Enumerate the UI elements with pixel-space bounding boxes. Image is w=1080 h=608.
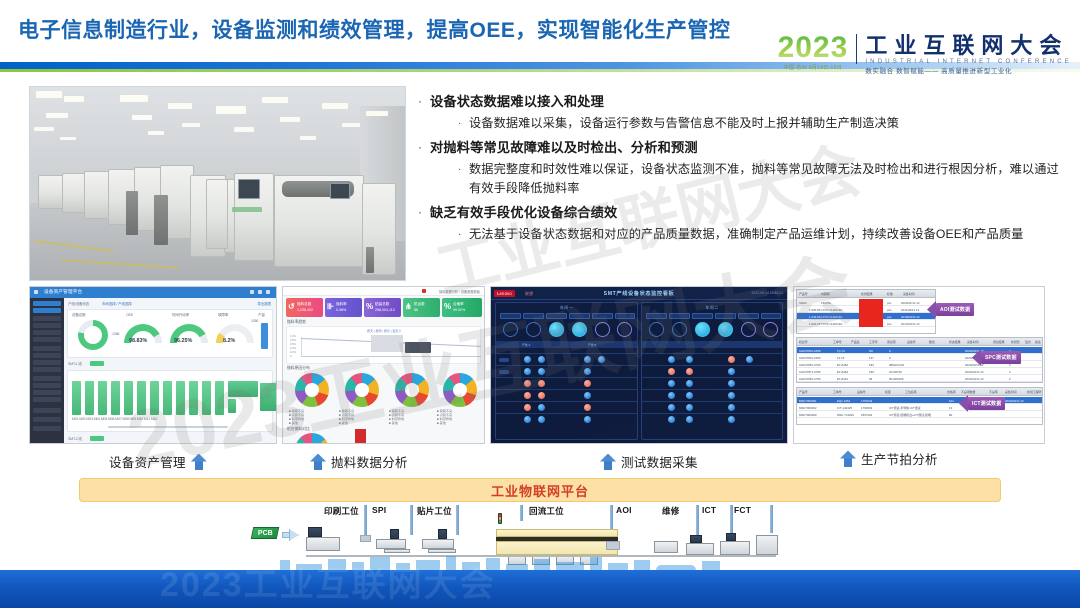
photo-machine-dark xyxy=(126,191,138,235)
bullet-marker: · xyxy=(418,203,430,222)
status-dot[interactable] xyxy=(728,368,735,375)
cell: 189 xyxy=(869,370,874,374)
status-dot[interactable] xyxy=(584,368,591,375)
status-dot-alarm[interactable] xyxy=(686,368,693,375)
col-header-0: 产品号 xyxy=(799,292,808,296)
dash3-timestamp: 2023-09-14 15:40:21 xyxy=(752,291,783,295)
status-dot[interactable] xyxy=(668,404,675,411)
cell: 1751042 xyxy=(861,399,872,403)
col-header-11: 班次 xyxy=(1025,340,1031,344)
sidebar-item[interactable] xyxy=(33,323,61,328)
bullet-level2: · 数据完整度和时效性难以保证，设备状态监测不准，抛料等常见故障无法及时检出和进… xyxy=(458,160,1073,199)
dashboard-test-data[interactable]: Lenovo 联想 SMT产线设备状态监控看板 2023-09-14 15:40… xyxy=(490,286,788,444)
status-dot-alarm[interactable] xyxy=(584,380,591,387)
conference-name-block: 工业互联网大会 INDUSTRIAL INTERNET CONFERENCE 数… xyxy=(865,34,1072,76)
dash1-section-1-label: SMT-1 线 xyxy=(68,362,82,367)
status-dot[interactable] xyxy=(668,356,675,363)
dash1-sidebar[interactable] xyxy=(30,298,64,443)
caption-reject-analysis: 抛料数据分析 xyxy=(310,452,408,471)
reflow-oven-top xyxy=(496,529,618,537)
sidebar-item-overview[interactable] xyxy=(33,301,61,306)
gauge-value-4: 1260 xyxy=(251,319,258,323)
scrollbar-horizontal[interactable] xyxy=(108,426,228,428)
col-header-5: 合格项 xyxy=(947,390,956,394)
gauge-label-1: OEE xyxy=(126,313,133,317)
machine-card[interactable] xyxy=(176,381,185,415)
kpi-ring-1 xyxy=(672,322,687,337)
table-row[interactable]: CHK07891-0790 ET-8491 96 801269155 2024/… xyxy=(797,375,1042,382)
table-row[interactable] xyxy=(496,365,637,376)
sidebar-item[interactable] xyxy=(33,397,61,402)
table-row[interactable]: SI023 15672A pcs 2024/01/14 12 xyxy=(797,299,935,306)
chart-selection-box xyxy=(371,335,403,352)
status-dot[interactable] xyxy=(728,404,735,411)
bell-icon[interactable] xyxy=(258,290,262,294)
machine-card[interactable] xyxy=(85,381,94,415)
machine-card[interactable] xyxy=(189,381,198,415)
kpi-title-2: 贴装总数 xyxy=(375,302,389,307)
table-row[interactable] xyxy=(496,401,637,412)
kpi-ring-1 xyxy=(526,322,541,337)
callout-label-spc: SPC测试数据 xyxy=(985,354,1017,361)
chip-2[interactable] xyxy=(692,313,713,319)
station-post xyxy=(456,505,459,535)
col-header-5: 设备号 xyxy=(907,340,916,344)
conference-date: 中国·苏州 9月14日-16日 xyxy=(778,64,849,71)
col-header-6: 数值 xyxy=(929,340,935,344)
ceiling-light xyxy=(182,123,200,127)
callout-label-ict: ICT测试数据 xyxy=(972,400,1001,407)
cell: EQ1-2451 xyxy=(837,399,850,403)
kpi-ring-4 xyxy=(595,322,610,337)
table-row[interactable] xyxy=(496,389,637,400)
skyline-block xyxy=(590,557,602,570)
chip-5[interactable] xyxy=(615,313,635,319)
col-header-0: 机台号 xyxy=(799,340,808,344)
callout-body: SPC测试数据 xyxy=(981,351,1021,364)
donut-chart-0 xyxy=(295,373,329,407)
kpi-ring-5 xyxy=(763,322,778,337)
cell: 2024/03/14 13 xyxy=(1005,399,1024,403)
skyline-block xyxy=(556,562,584,570)
kpi-card-0[interactable]: ↺ 抛料总数 1,238,402 xyxy=(286,298,323,317)
bullet-marker: · xyxy=(418,92,430,111)
search-icon[interactable] xyxy=(250,290,254,294)
ceiling-light xyxy=(36,91,62,98)
status-dot[interactable] xyxy=(686,416,693,423)
status-dot[interactable] xyxy=(746,356,753,363)
skyline-block xyxy=(634,560,650,570)
ceiling-light xyxy=(366,111,388,116)
table-ict[interactable]: 产品号 工单号 设备号 机型 工位名称 合格项 不良项数量 不良率 采集时间 检… xyxy=(796,387,1043,425)
machine-card[interactable] xyxy=(124,381,133,415)
col-header-4: 采集时间 xyxy=(903,292,915,296)
bullet-list: · 设备状态数据难以接入和处理 · 设备数据难以采集，设备运行参数与告警信息不能… xyxy=(418,88,1073,248)
status-dot[interactable] xyxy=(538,368,545,375)
chip-2[interactable] xyxy=(546,313,567,319)
dashboard-strip: 设备资产管理平台 产线/设备状态 车间选择 / 产线选择 xyxy=(29,286,1049,444)
table-row[interactable]: 1,522,157 PCS CHK019A pcs 2012/03/14 12 xyxy=(797,320,935,327)
station-label-aoi: AOI xyxy=(616,505,632,515)
status-dot[interactable] xyxy=(686,380,693,387)
machine-card[interactable] xyxy=(202,381,211,415)
up-arrow-icon xyxy=(600,454,616,470)
reflow-oven-body xyxy=(496,541,618,555)
table-row[interactable] xyxy=(642,401,782,412)
status-dot-alarm[interactable] xyxy=(524,392,531,399)
sidebar-item[interactable] xyxy=(33,376,61,381)
callout-ict: ICT测试数据 xyxy=(959,395,1005,412)
status-dot[interactable] xyxy=(668,392,675,399)
up-arrow-icon xyxy=(310,454,326,470)
col-header-9: 测试结果 xyxy=(993,340,1005,344)
dash2-user-info: 抛料数据分析 / 设备数据看板 xyxy=(439,289,480,294)
sidebar-item[interactable] xyxy=(33,383,61,388)
cell-ng-highlight xyxy=(859,299,883,306)
station-label-reflow: 回流工位 xyxy=(529,505,564,517)
donut-chart-3 xyxy=(443,373,477,407)
table-row[interactable]: CHK07871-0780 ET-8484 189 20149760 2024/… xyxy=(797,368,1042,375)
conference-year: 2023 xyxy=(778,34,849,62)
machine-block[interactable] xyxy=(228,381,258,397)
ceiling-light xyxy=(60,137,76,140)
cell: 2012/03/14 12 xyxy=(901,322,920,326)
bullet-level2-text: 数据完整度和时效性难以保证，设备状态监测不准，抛料等常见故障无法及时检出和进行根… xyxy=(469,160,1064,199)
table-header: 产品号 内容码 检测结果 标准 采集时间 xyxy=(797,290,935,298)
cell: ICT测试-半导体-ICT测试 xyxy=(889,406,920,410)
sidebar-item[interactable] xyxy=(33,390,61,395)
caption-label: 抛料数据分析 xyxy=(331,452,408,471)
column-title-right: 车间二 xyxy=(642,305,782,311)
kpi-ring-3 xyxy=(572,322,587,337)
callout-spc: SPC测试数据 xyxy=(972,349,1021,366)
photo-ceiling xyxy=(30,87,405,180)
chip-4[interactable] xyxy=(738,313,759,319)
status-dot[interactable] xyxy=(598,356,605,363)
status-dot[interactable] xyxy=(584,392,591,399)
machine-card[interactable] xyxy=(163,381,172,415)
conference-name-en: INDUSTRIAL INTERNET CONFERENCE xyxy=(865,58,1072,67)
kpi-sub-2: 258,004,113 xyxy=(375,308,395,313)
chip-3[interactable] xyxy=(715,313,736,319)
avatar[interactable] xyxy=(266,290,270,294)
cell: CHK07871-0780 xyxy=(799,370,821,374)
kpi-ring-2 xyxy=(549,322,564,337)
status-dot[interactable] xyxy=(686,392,693,399)
machine-block[interactable] xyxy=(228,399,236,413)
cell: 101 xyxy=(949,399,954,403)
col-header-3: 工序号 xyxy=(869,340,878,344)
ceiling-light xyxy=(342,123,360,127)
status-dot[interactable] xyxy=(538,404,545,411)
sub-title-left: 产线 A xyxy=(522,343,530,347)
kpi-title-3: 机台数 xyxy=(414,302,425,307)
status-dot[interactable] xyxy=(524,368,531,375)
status-dot[interactable] xyxy=(686,404,693,411)
kpi-card-2[interactable]: % 贴装总数 258,004,113 xyxy=(364,298,401,317)
oven-block[interactable] xyxy=(260,383,277,411)
status-dot[interactable] xyxy=(584,356,591,363)
dashboard-reject-analysis[interactable]: 抛料数据分析 / 设备数据看板 ↺ 抛料总数 1,238,402 ⊪ 抛料率 0… xyxy=(282,286,485,444)
status-dot[interactable] xyxy=(538,416,545,423)
bullet-level1-text: 对抛料等常见故障难以及时检出、分析和预测 xyxy=(430,138,698,157)
col-header-6: 不良项数量 xyxy=(961,390,975,394)
dashboard-takt-analysis[interactable]: 产品号 内容码 检测结果 标准 采集时间 SI023 15672A pcs 20… xyxy=(793,286,1045,444)
status-dot[interactable] xyxy=(686,356,693,363)
col-header-0: 产品号 xyxy=(799,390,808,394)
machine-card[interactable] xyxy=(98,381,107,415)
sidebar-item[interactable] xyxy=(33,367,61,372)
station-post xyxy=(520,505,523,521)
signal-tower-icon xyxy=(498,513,502,524)
cell: MSK7000001 xyxy=(799,399,817,403)
photo-machine xyxy=(62,173,86,213)
alert-icon[interactable] xyxy=(422,289,426,293)
kpi-ring-0 xyxy=(649,322,664,337)
table-row[interactable]: 1,525,601 PCS CHK019A pcs 2011/03/14 13 xyxy=(797,306,935,313)
chip-5[interactable] xyxy=(761,313,781,319)
kpi-ring-0 xyxy=(503,322,518,337)
cell: Tp-74 xyxy=(837,349,845,353)
dash1-app-title: 设备资产管理平台 xyxy=(44,289,82,295)
machine-card[interactable] xyxy=(215,381,224,415)
table-aoi[interactable]: 产品号 内容码 检测结果 标准 采集时间 SI023 15672A pcs 20… xyxy=(796,289,936,334)
bullet-level1-text: 设备状态数据难以接入和处理 xyxy=(430,92,604,111)
machine-card[interactable] xyxy=(150,381,159,415)
machine-axis-labels: M01 M02 M03 M04 M05 M06 M07 M08 M09 M10 … xyxy=(72,417,157,421)
bullet-level2-text: 无法基于设备状态数据和对应的产品质量数据，准确制定产品运维计划，持续改善设备OE… xyxy=(469,225,1064,245)
pcb-label: PCB xyxy=(258,530,273,537)
ceiling-light xyxy=(216,106,246,114)
conference-name-cn: 工业互联网大会 xyxy=(865,34,1072,58)
cell: MSK-741025 xyxy=(837,413,854,417)
sidebar-item[interactable] xyxy=(33,337,61,342)
kpi-ring-5 xyxy=(617,322,632,337)
placement-head-2 xyxy=(438,529,447,539)
machine-card[interactable] xyxy=(111,381,120,415)
status-dot[interactable] xyxy=(728,416,735,423)
dash1-filter-label[interactable]: 车间选择 / 产线选择 xyxy=(102,302,132,307)
cell: SI023 xyxy=(799,301,807,305)
status-dot-alarm[interactable] xyxy=(728,356,735,363)
status-dot-alarm[interactable] xyxy=(524,404,531,411)
chip-3[interactable] xyxy=(569,313,590,319)
caption-test-data: 测试数据采集 xyxy=(600,452,698,471)
caption-asset-management: 设备资产管理 xyxy=(109,452,207,471)
col-header-3: 机型 xyxy=(885,390,891,394)
chip-1[interactable] xyxy=(523,313,544,319)
pcb-board: PCB xyxy=(251,527,280,539)
bullet-marker: · xyxy=(418,138,430,157)
cell: 15672A xyxy=(821,301,831,305)
col-header-1: 内容码 xyxy=(821,292,830,296)
ict-head xyxy=(690,535,702,543)
sidebar-item[interactable] xyxy=(33,330,61,335)
dashboard-asset-management[interactable]: 设备资产管理平台 产线/设备状态 车间选择 / 产线选择 xyxy=(29,286,277,444)
callout-arrow-icon xyxy=(959,395,968,412)
machine-card[interactable] xyxy=(137,381,146,415)
chip-4[interactable] xyxy=(592,313,613,319)
status-dot[interactable] xyxy=(538,356,545,363)
cell: pcs xyxy=(887,322,892,326)
trend-filter-tabs[interactable]: 按天 | 按周 | 按月 | 自定义 xyxy=(367,329,401,333)
status-dot[interactable] xyxy=(524,356,531,363)
status-dot-alarm[interactable] xyxy=(538,380,545,387)
dash2-bottom-title: 机台抛料对比 xyxy=(287,427,310,432)
donut-chart-1 xyxy=(345,373,379,407)
dash3-header: Lenovo 联想 SMT产线设备状态监控看板 2023-09-14 15:40… xyxy=(491,287,787,300)
status-dot[interactable] xyxy=(728,380,735,387)
cell: 2024/03/14 13 xyxy=(965,370,984,374)
cell: 20149760 xyxy=(889,370,902,374)
kpi-card-4[interactable]: % 合格率 99.52% xyxy=(442,298,482,317)
cell-ng-highlight xyxy=(859,306,883,313)
machine-card[interactable] xyxy=(72,381,81,415)
ceiling-light xyxy=(262,97,288,103)
callout-arrow-icon xyxy=(972,349,981,366)
table-row[interactable] xyxy=(642,365,782,376)
dash1-section-1-badge xyxy=(90,361,104,366)
cell: pcs xyxy=(887,315,892,319)
table-header-band xyxy=(642,341,782,348)
bullet-marker: · xyxy=(458,114,469,134)
column-title-left: 车间一 xyxy=(496,305,637,311)
chip-0[interactable] xyxy=(500,313,521,319)
table-row[interactable] xyxy=(496,377,637,388)
dash2-trend-title: 抛料率趋势 xyxy=(287,320,306,325)
cell: CHK07841-0450 xyxy=(799,356,821,360)
status-dot[interactable] xyxy=(728,392,735,399)
dash3-column-left: 车间一 产线 A 产线 B xyxy=(495,302,638,440)
col-header-2: 设备号 xyxy=(857,390,866,394)
kpi-title-4: 合格率 xyxy=(453,302,464,307)
dash1-section-2-label: SMT-2 线 xyxy=(68,437,82,442)
gauge-value-2: 96.25% xyxy=(174,338,192,344)
col-header-2: 检测结果 xyxy=(861,292,873,296)
ceiling-light xyxy=(120,95,148,102)
skyline-block xyxy=(702,561,720,570)
table-row[interactable] xyxy=(642,389,782,400)
gauge-label-3: 故障率 xyxy=(218,313,228,318)
kpi-ring-2 xyxy=(695,322,710,337)
skyline-block xyxy=(534,559,550,570)
bullet-level2: · 无法基于设备状态数据和对应的产品质量数据，准确制定产品运维计划，持续改善设备… xyxy=(458,225,1073,245)
conference-logo: 2023 中国·苏州 9月14日-16日 工业互联网大会 INDUSTRIAL … xyxy=(778,34,1072,76)
kpi-icon-3: ⋔ xyxy=(405,303,412,311)
kpi-icon-1: ⊪ xyxy=(327,303,334,311)
col-header-7: 状态结果 xyxy=(949,340,961,344)
printer-body xyxy=(306,537,340,551)
cell-ng-highlight xyxy=(859,320,883,327)
col-header-12: 备注 xyxy=(1035,340,1041,344)
status-dot-alarm[interactable] xyxy=(668,368,675,375)
table-row[interactable]: MSK7000009 MSK-741025 1857402 ICT测试-终端机台… xyxy=(797,411,1042,418)
cell: 96 xyxy=(869,377,872,381)
caption-takt-analysis: 生产节拍分析 xyxy=(840,449,938,468)
station-label-ict: ICT xyxy=(702,505,716,515)
status-dot[interactable] xyxy=(584,416,591,423)
feed-arrow-icon xyxy=(282,529,297,539)
chip-1[interactable] xyxy=(669,313,690,319)
table-row[interactable] xyxy=(642,377,782,388)
status-dot-alarm[interactable] xyxy=(524,380,531,387)
gauge-value-1: 98.83% xyxy=(129,338,147,344)
status-dot-alarm[interactable] xyxy=(584,404,591,411)
gauge-label-2: 时间开动率 xyxy=(172,313,189,318)
col-header-7: 不良率 xyxy=(989,390,998,394)
dash1-export-button[interactable]: 导出报表 xyxy=(257,302,271,307)
callout-arrow-icon xyxy=(927,301,936,318)
row-label xyxy=(499,370,509,374)
cell: 147 xyxy=(869,356,874,360)
status-dot[interactable] xyxy=(524,416,531,423)
cell: pcs xyxy=(887,308,892,312)
cell: CHK07851-0760 xyxy=(799,363,821,367)
cell: pcs xyxy=(887,301,892,305)
donut-legend-2: ■ 吸取不良■ 识别不良■ 料带异常■ 其他 xyxy=(389,409,404,425)
cell: MSK7000009 xyxy=(799,413,817,417)
photo-machine xyxy=(206,179,228,249)
status-dot[interactable] xyxy=(668,380,675,387)
kpi-icon-4: % xyxy=(444,303,451,311)
sidebar-item[interactable] xyxy=(33,346,61,351)
platform-bar: 工业物联网平台 xyxy=(79,478,1001,502)
ceiling-light xyxy=(280,117,300,122)
sidebar-item[interactable] xyxy=(33,353,61,358)
station-label-spi: SPI xyxy=(372,505,386,515)
placement-head-1 xyxy=(390,529,399,539)
table-row-selected[interactable]: 1,244,822 PCS CHK019A pcs 2010/03/14 12 xyxy=(797,313,935,320)
cell: 12-15 xyxy=(837,356,844,360)
sidebar-item[interactable] xyxy=(33,408,61,413)
kpi-card-3[interactable]: ⋔ 机台数 86 xyxy=(403,298,440,317)
cell: 801269155 xyxy=(889,377,903,381)
cell: 2011/03/14 13 xyxy=(901,308,919,312)
kpi-title-0: 抛料总数 xyxy=(297,302,311,307)
table-row[interactable] xyxy=(642,353,782,364)
sidebar-item[interactable] xyxy=(33,426,61,431)
sidebar-item[interactable] xyxy=(33,417,61,422)
bullet-level2-text: 设备数据难以采集，设备运行参数与告警信息不能及时上报并辅助生产制造决策 xyxy=(469,114,1064,134)
ceiling-light xyxy=(322,103,348,109)
sidebar-item-active[interactable] xyxy=(33,308,61,313)
station-post xyxy=(696,505,699,539)
kpi-icon-0: ↺ xyxy=(288,303,295,311)
bullet-level1: · 缺乏有效手段优化设备综合绩效 xyxy=(418,203,1073,222)
kpi-card-1[interactable]: ⊪ 抛料率 0.48% xyxy=(325,298,362,317)
station-post xyxy=(770,505,773,533)
ceiling-light xyxy=(34,127,54,131)
kpi-sub-1: 0.48% xyxy=(336,308,346,313)
cell: 2 xyxy=(1009,370,1011,374)
dash1-kpi-panel: 设备总数 1268 OEE 98.83% 时间开动率 96.25% 故障率 8.… xyxy=(67,309,273,358)
cell: 2 xyxy=(1009,377,1011,381)
chip-0[interactable] xyxy=(646,313,667,319)
table-row[interactable] xyxy=(642,413,782,424)
photo-machine xyxy=(84,171,110,219)
status-dot-alarm[interactable] xyxy=(538,392,545,399)
conference-year-block: 2023 中国·苏州 9月14日-16日 xyxy=(778,34,857,71)
sidebar-item[interactable] xyxy=(33,360,61,365)
status-dot[interactable] xyxy=(668,416,675,423)
table-row[interactable] xyxy=(496,353,637,364)
cell: OK xyxy=(869,349,873,353)
donut-chart-2 xyxy=(395,373,429,407)
bullet-marker: · xyxy=(458,160,469,199)
cell: 1857402 xyxy=(861,413,872,417)
sidebar-item[interactable] xyxy=(33,316,61,321)
table-row[interactable] xyxy=(496,413,637,424)
